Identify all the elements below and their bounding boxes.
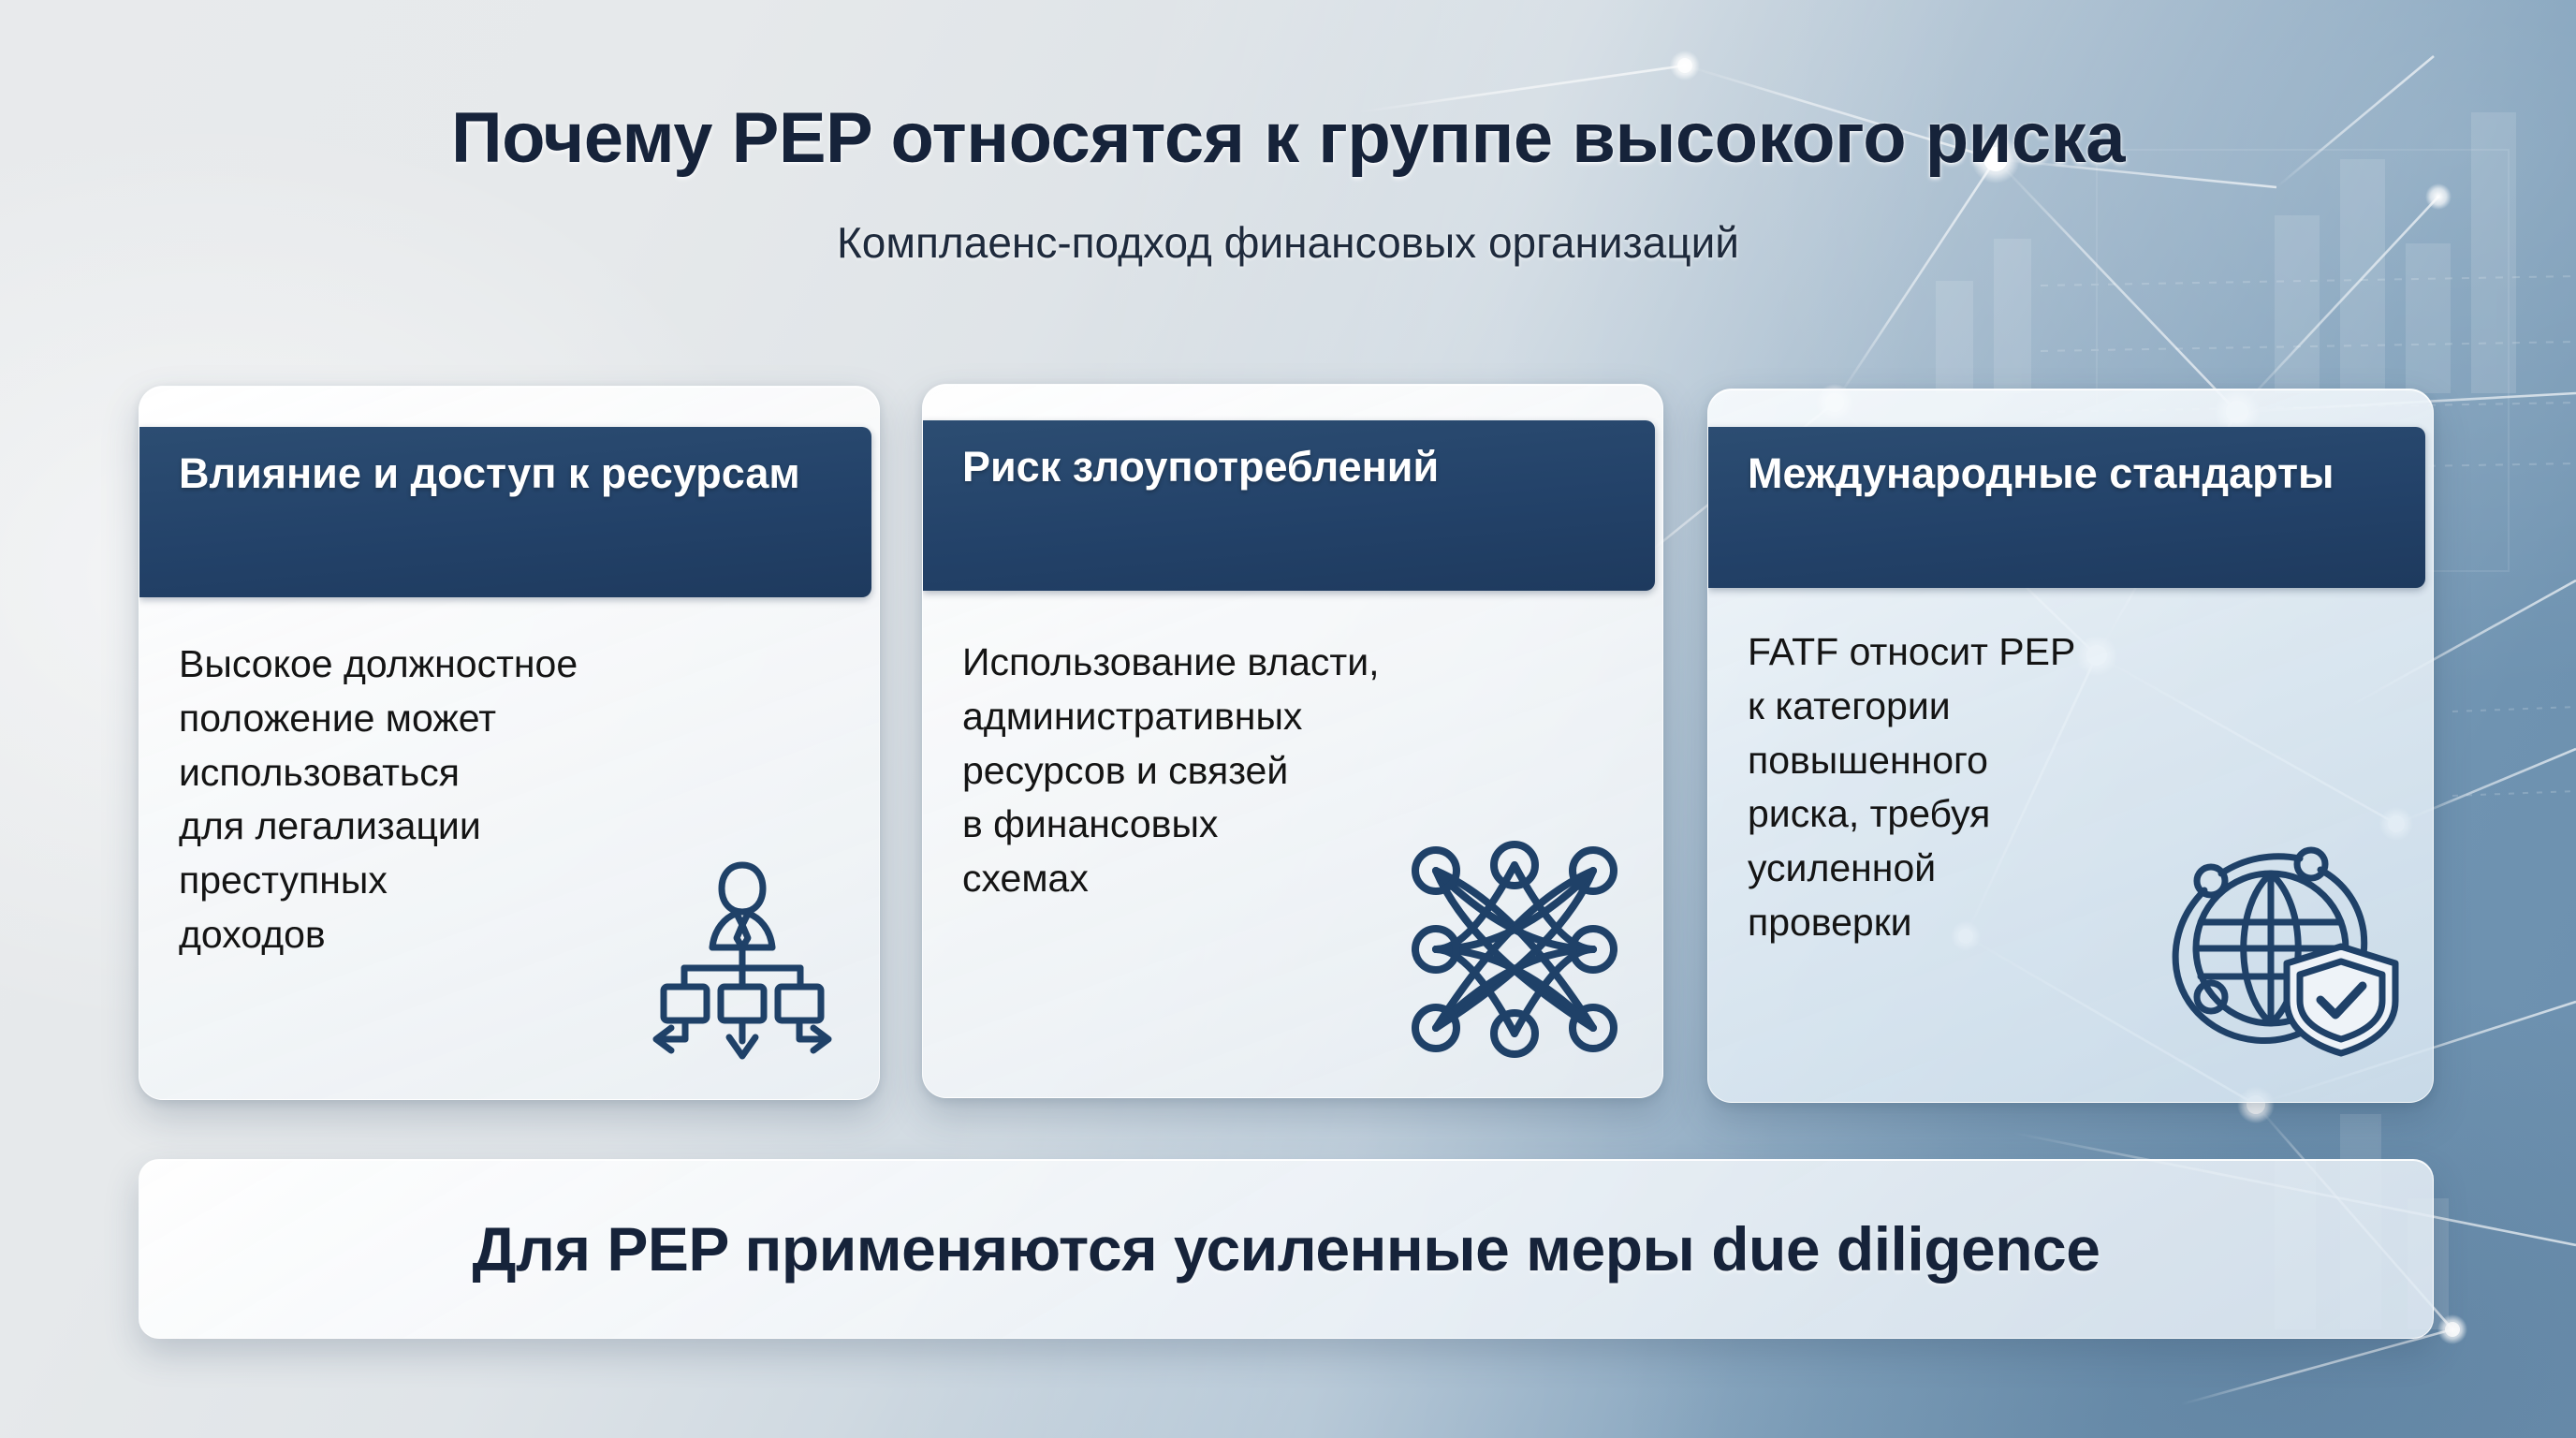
network-nodes-icon — [1404, 839, 1625, 1060]
card-title: Влияние и доступ к ресурсам — [139, 427, 871, 597]
card-body-text: Высокое должностное положение может испо… — [179, 638, 703, 962]
card-title: Риск злоупотреблений — [923, 420, 1655, 591]
summary-banner-text: Для PEP применяются усиленные меры due d… — [473, 1213, 2100, 1284]
summary-banner: Для PEP применяются усиленные меры due d… — [139, 1159, 2434, 1339]
page-subtitle: Комплаенс-подход финансовых организаций — [0, 217, 2576, 268]
globe-shield-check-icon — [2163, 836, 2405, 1057]
card-influence-access[interactable]: Влияние и доступ к ресурсам Высокое долж… — [139, 386, 880, 1100]
org-hierarchy-person-icon — [649, 858, 836, 1064]
card-international-standards[interactable]: Международные стандарты FATF относит PEP… — [1707, 389, 2434, 1103]
page-title: Почему PEP относятся к группе высокого р… — [0, 97, 2576, 179]
card-title: Международные стандарты — [1708, 427, 2425, 588]
card-body-text: FATF относит PEP к категории повышенного… — [1748, 625, 2188, 950]
card-abuse-risk[interactable]: Риск злоупотреблений Использование власт… — [922, 384, 1663, 1098]
infographic-slide: Почему PEP относятся к группе высокого р… — [0, 0, 2576, 1438]
